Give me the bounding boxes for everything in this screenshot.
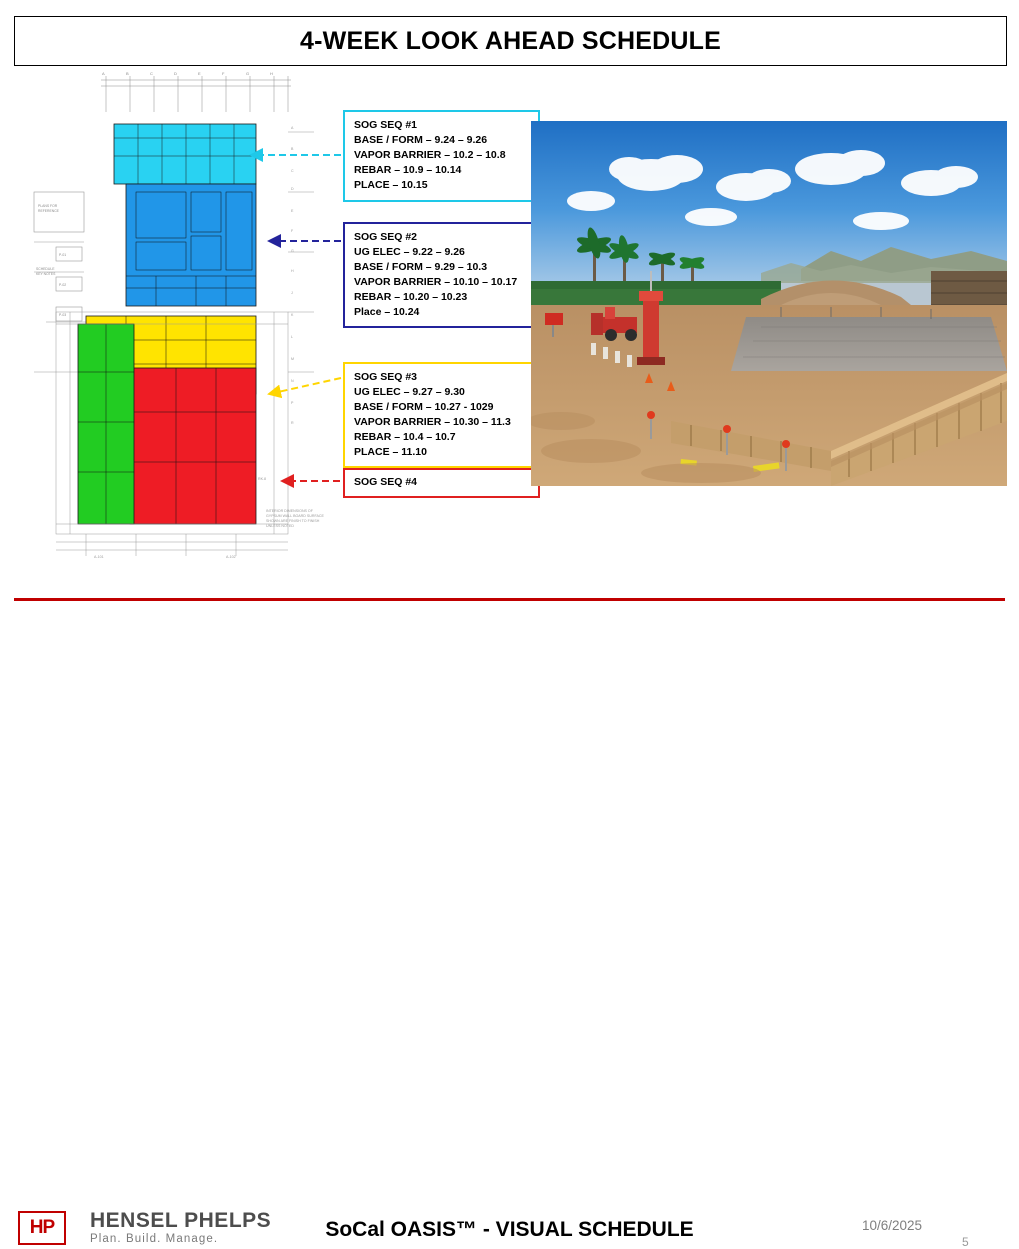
svg-text:INTERIOR DIMENSIONS OF: INTERIOR DIMENSIONS OF: [266, 509, 314, 513]
svg-text:PLANS FOR: PLANS FOR: [38, 204, 58, 208]
svg-text:KEY NOTES: KEY NOTES: [36, 272, 56, 276]
callout-sog-seq-3: SOG SEQ #3 UG ELEC – 9.27 – 9.30 BASE / …: [343, 362, 540, 468]
svg-text:G: G: [246, 72, 249, 76]
svg-text:A-102: A-102: [226, 555, 236, 559]
svg-text:L: L: [291, 335, 293, 339]
callout-line: VAPOR BARRIER – 10.10 – 10.17: [354, 275, 530, 290]
svg-text:RK.8: RK.8: [258, 477, 266, 481]
svg-text:E: E: [198, 72, 201, 76]
callout-line: Place – 10.24: [354, 305, 530, 320]
callout-line: BASE / FORM – 9.24 – 9.26: [354, 133, 530, 148]
svg-text:C: C: [150, 72, 153, 76]
callout-header: SOG SEQ #1: [354, 118, 530, 133]
callout-sog-seq-1: SOG SEQ #1 BASE / FORM – 9.24 – 9.26 VAP…: [343, 110, 540, 202]
svg-text:H: H: [291, 269, 294, 273]
slide-title-box: 4-WEEK LOOK AHEAD SCHEDULE: [14, 16, 1007, 66]
callout-line: REBAR – 10.9 – 10.14: [354, 163, 530, 178]
svg-text:UNLESS NOTED: UNLESS NOTED: [266, 524, 294, 528]
svg-text:A: A: [102, 72, 105, 76]
svg-text:P-01: P-01: [59, 253, 66, 257]
svg-text:P: P: [291, 401, 294, 405]
svg-text:H: H: [270, 72, 273, 76]
svg-text:GYPSUM WALL BOARD SURFACE: GYPSUM WALL BOARD SURFACE: [266, 514, 324, 518]
footer-date: 10/6/2025: [862, 1218, 922, 1233]
callout-line: UG ELEC – 9.22 – 9.26: [354, 245, 530, 260]
svg-text:D: D: [174, 72, 177, 76]
callout-line: REBAR – 10.4 – 10.7: [354, 430, 530, 445]
callout-sog-seq-4: SOG SEQ #4: [343, 468, 540, 498]
svg-text:A-101: A-101: [94, 555, 104, 559]
callout-line: UG ELEC – 9.27 – 9.30: [354, 385, 530, 400]
callout-line: REBAR – 10.20 – 10.23: [354, 290, 530, 305]
callout-line: PLACE – 10.15: [354, 178, 530, 193]
slide-footer: HP HENSEL PHELPS Plan. Build. Manage. So…: [0, 601, 1019, 656]
svg-text:G: G: [291, 249, 294, 253]
svg-text:K: K: [291, 313, 294, 317]
footer-page-number: 5: [962, 1235, 969, 1249]
svg-text:P-03: P-03: [59, 313, 66, 317]
callout-line: BASE / FORM – 9.29 – 10.3: [354, 260, 530, 275]
svg-text:P-02: P-02: [59, 283, 66, 287]
svg-text:SCHEDULE: SCHEDULE: [36, 267, 55, 271]
svg-text:N: N: [291, 379, 294, 383]
callout-header: SOG SEQ #2: [354, 230, 530, 245]
svg-text:R: R: [291, 421, 294, 425]
callout-line: BASE / FORM – 10.27 - 1029: [354, 400, 530, 415]
callout-sog-seq-2: SOG SEQ #2 UG ELEC – 9.22 – 9.26 BASE / …: [343, 222, 540, 328]
svg-text:D: D: [291, 187, 294, 191]
svg-text:C: C: [291, 169, 294, 173]
svg-text:M: M: [291, 357, 294, 361]
svg-text:J: J: [291, 291, 293, 295]
svg-text:F: F: [222, 72, 225, 76]
svg-text:REFERENCE: REFERENCE: [38, 209, 60, 213]
callout-line: VAPOR BARRIER – 10.2 – 10.8: [354, 148, 530, 163]
callout-header: SOG SEQ #4: [354, 475, 530, 490]
svg-text:F: F: [291, 229, 294, 233]
callout-line: PLACE – 11.10: [354, 445, 530, 460]
svg-text:B: B: [126, 72, 129, 76]
svg-text:B: B: [291, 147, 294, 151]
slide-canvas: 4-WEEK LOOK AHEAD SCHEDULE Slab On Grade…: [0, 0, 1019, 656]
page-title: 4-WEEK LOOK AHEAD SCHEDULE: [300, 27, 721, 56]
floor-plan-drawing: ABC DEF GH PLANS FOR REFERENCE P-01 P-02: [26, 72, 326, 562]
callout-header: SOG SEQ #3: [354, 370, 530, 385]
construction-site-photo: [531, 121, 1007, 486]
svg-text:E: E: [291, 209, 294, 213]
svg-text:SHOWN ARE FINISH TO FINISH: SHOWN ARE FINISH TO FINISH: [266, 519, 320, 523]
callout-line: VAPOR BARRIER – 10.30 – 11.3: [354, 415, 530, 430]
svg-text:A: A: [291, 126, 294, 130]
